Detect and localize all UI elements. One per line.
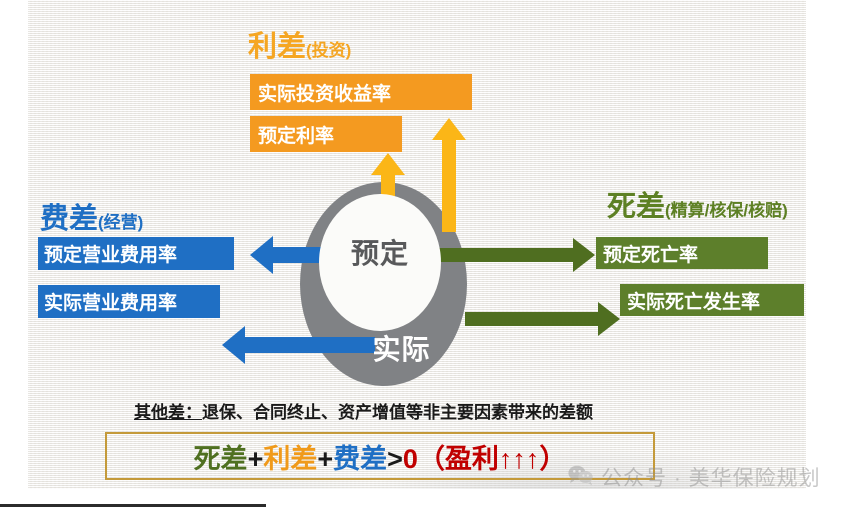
arrow-head <box>222 326 245 364</box>
formula-greater-than: > <box>387 444 403 474</box>
center-label-assumed: 预定 <box>319 232 441 272</box>
formula-plus-2: + <box>317 444 333 474</box>
center-label-actual: 实际 <box>334 328 469 368</box>
heading-interest-main: 利差 <box>248 31 306 63</box>
arrow-shaft <box>442 139 456 232</box>
formula-zero: 0 <box>403 444 418 474</box>
heading-expense-main: 费差 <box>40 203 98 235</box>
slide-root: 预定 实际 利差(投资) 费差(经营) 死差(精算/核保/核赔) 实际投资收益率… <box>0 0 848 511</box>
profit-formula: 死差+利差+费差>0（盈利↑↑↑） <box>194 437 567 476</box>
heading-expense-spread: 费差(经营) <box>40 195 143 237</box>
bar-actual-expense-ratio: 实际营业费用率 <box>38 285 220 318</box>
arrow-head <box>598 302 620 336</box>
other-spread-text: 退保、合同终止、资产增值等非主要因素带来的差额 <box>202 403 593 422</box>
arrow-shaft <box>465 312 601 326</box>
heading-expense-sub: (经营) <box>98 213 143 232</box>
formula-expense: 费差 <box>333 444 387 474</box>
bar-assumed-mortality-rate: 预定死亡率 <box>596 237 768 269</box>
heading-mortality-main: 死差 <box>607 191 665 223</box>
arrow-head <box>573 238 595 272</box>
formula-interest: 利差 <box>263 444 317 474</box>
formula-mortality: 死差 <box>194 444 248 474</box>
arrow-head <box>371 153 405 175</box>
formula-profit: （盈利↑↑↑） <box>418 444 567 474</box>
heading-mortality-sub: (精算/核保/核赔) <box>665 201 788 220</box>
other-spread-label: 其他差： <box>134 403 202 422</box>
other-spread-note: 其他差：退保、合同终止、资产增值等非主要因素带来的差额 <box>134 398 593 423</box>
bottom-rule <box>0 504 266 507</box>
heading-interest-spread: 利差(投资) <box>248 23 351 65</box>
bar-assumed-interest-rate: 预定利率 <box>250 116 402 152</box>
formula-plus-1: + <box>248 444 264 474</box>
heading-mortality-spread: 死差(精算/核保/核赔) <box>607 183 788 225</box>
bar-actual-investment-return: 实际投资收益率 <box>250 74 472 110</box>
bar-actual-mortality-rate: 实际死亡发生率 <box>620 284 804 316</box>
arrow-shaft <box>420 248 576 262</box>
arrow-head <box>250 236 273 274</box>
profit-formula-box: 死差+利差+费差>0（盈利↑↑↑） <box>105 432 655 480</box>
heading-interest-sub: (投资) <box>306 41 351 60</box>
arrow-head <box>432 118 466 140</box>
bar-assumed-expense-ratio: 预定营业费用率 <box>38 237 234 270</box>
